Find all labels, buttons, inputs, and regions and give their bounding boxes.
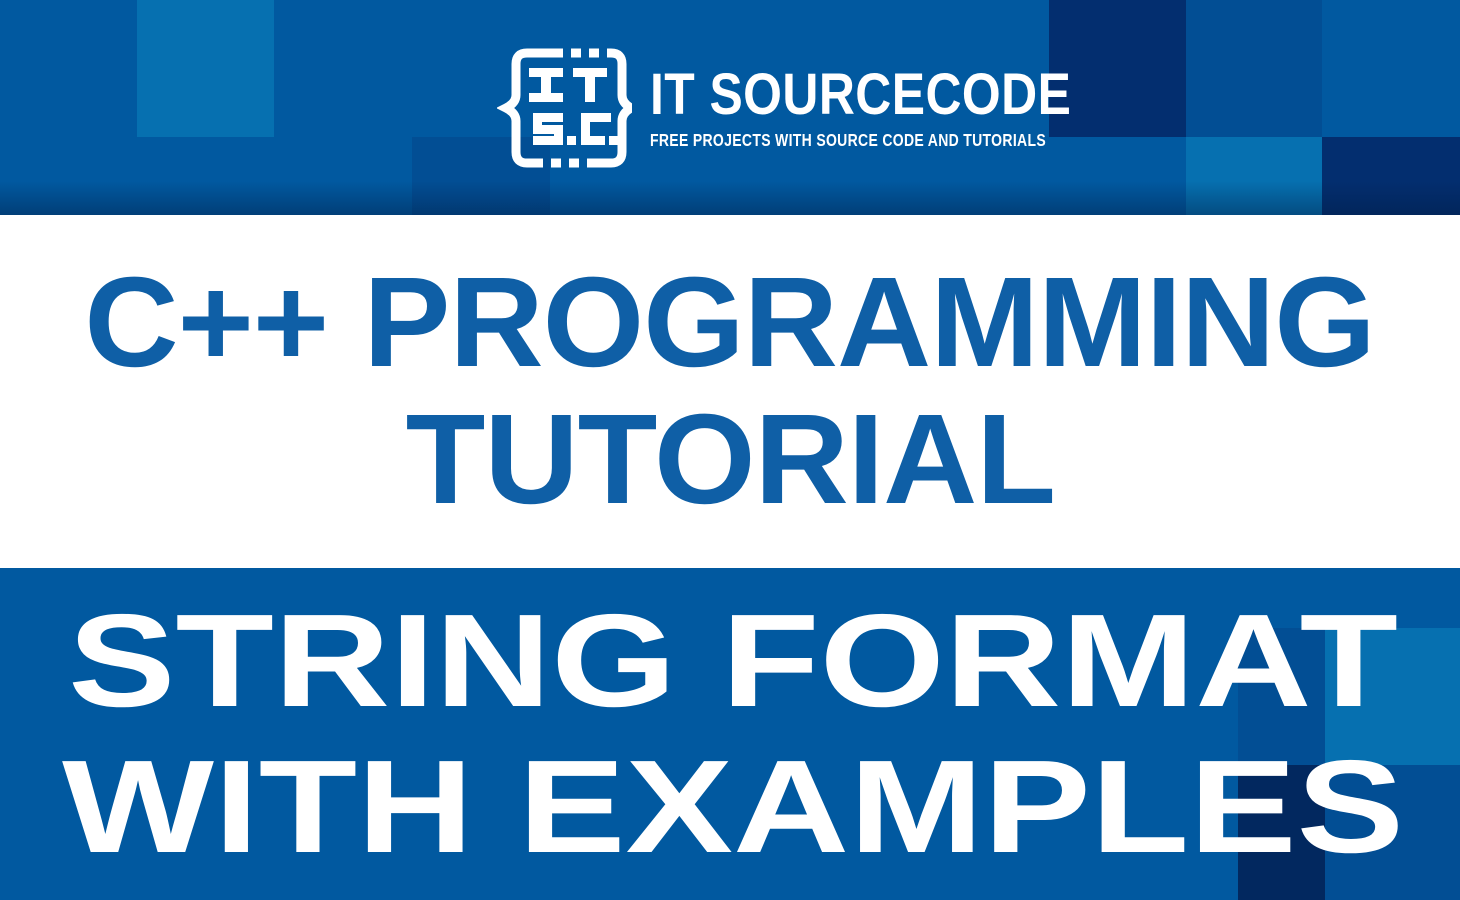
top-block-light-left (137, 0, 274, 137)
brand-tagline: FREE PROJECTS WITH SOURCE CODE AND TUTOR… (650, 131, 1046, 150)
top-block-light-right (1186, 137, 1322, 215)
headline-line-1: C++ PROGRAMMING (85, 258, 1375, 389)
subhead-band: STRING FORMAT WITH EXAMPLES (0, 568, 1460, 900)
top-block-mid-right (1186, 0, 1322, 137)
tutorial-banner: IT SOURCECODE FREE PROJECTS WITH SOURCE … (0, 0, 1460, 900)
brand-wordmark: IT SOURCECODE (650, 68, 1076, 123)
itsc-bracket-monogram-icon (497, 47, 632, 169)
headline-line-2: TUTORIAL (405, 395, 1054, 526)
headline-band: C++ PROGRAMMING TUTORIAL (0, 215, 1460, 568)
subhead-group: STRING FORMAT WITH EXAMPLES (0, 568, 1460, 900)
subhead-line-1: STRING FORMAT (68, 595, 1398, 727)
headline-group: C++ PROGRAMMING TUTORIAL (0, 215, 1460, 568)
brand-wordmark-group: IT SOURCECODE FREE PROJECTS WITH SOURCE … (650, 66, 1145, 151)
brand-logo[interactable]: IT SOURCECODE FREE PROJECTS WITH SOURCE … (497, 47, 977, 169)
subhead-line-2: WITH EXAMPLES (62, 741, 1404, 873)
top-block-navy-corner (1322, 137, 1460, 215)
